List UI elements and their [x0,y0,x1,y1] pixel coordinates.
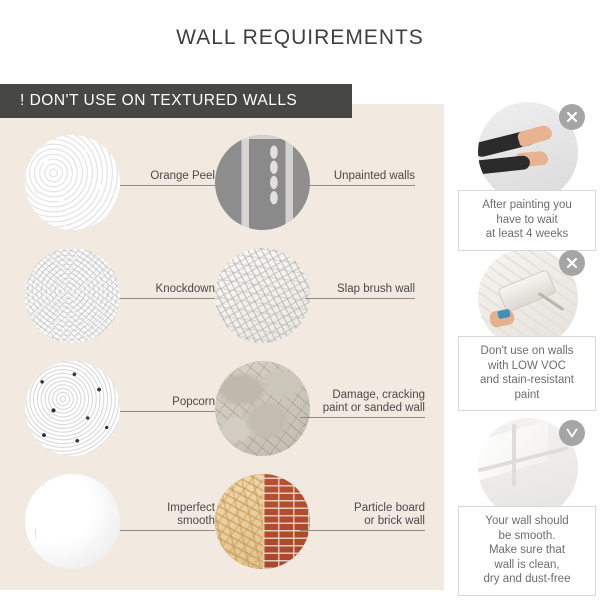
advice-card-smooth-clean: Your wall should be smooth. Make sure th… [458,418,598,506]
label-underline [300,530,425,531]
hands-on-wall-photo [473,102,583,190]
advice-card-low-voc: Don't use on walls with LOW VOC and stai… [458,248,598,336]
slap-brush-swatch [215,248,310,343]
warning-banner: ! DON'T USE ON TEXTURED WALLS [0,84,352,118]
label-underline [305,298,415,299]
cross-icon [559,250,585,276]
texture-item-imperfect: Imperfect smooth [25,474,215,584]
texture-label-unpainted: Unpainted walls [305,157,415,199]
orange-peel-swatch [25,135,120,230]
osb-half [215,474,263,569]
warning-banner-label: ! DON'T USE ON TEXTURED WALLS [0,92,297,110]
advice-card-text: Your wall should be smooth. Make sure th… [458,506,596,596]
texture-label-popcorn: Popcorn [120,383,215,425]
label-underline [120,530,215,531]
texture-label-slap-brush: Slap brush wall [305,270,415,312]
unpainted-wall-swatch [215,135,310,230]
texture-item-popcorn: Popcorn [25,361,215,471]
texture-label-damage: Damage, cracking paint or sanded wall [300,376,425,431]
texture-item-orange-peel: Orange Peel [25,135,215,245]
texture-label-particle-board: Particle board or brick wall [300,489,425,544]
label-underline [305,185,415,186]
texture-label-orange-peel: Orange Peel [120,157,215,199]
smooth-wall-photo [473,418,583,506]
imperfect-smooth-swatch [25,474,120,569]
label-underline [120,185,215,186]
texture-item-damage: Damage, cracking paint or sanded wall [215,361,415,471]
page-title: WALL REQUIREMENTS [0,26,600,50]
window-frame-shape [478,446,568,474]
damaged-wall-swatch [215,361,310,456]
texture-item-particle-board: Particle board or brick wall [215,474,415,584]
roller-drum-shape [497,269,557,313]
label-underline [300,417,425,418]
check-icon [559,420,585,446]
window-frame-shape [512,423,516,486]
knockdown-swatch [25,248,120,343]
texture-label-knockdown: Knockdown [120,270,215,312]
hand-shape [517,124,554,148]
hand-shape [515,151,548,168]
texture-item-knockdown: Knockdown [25,248,215,358]
texture-grid: Orange Peel Unpainted walls Knockdown [0,118,444,590]
advice-card-text: Don't use on walls with LOW VOC and stai… [458,336,596,411]
label-underline [120,411,215,412]
advice-card-wait-4-weeks: After painting you have to wait at least… [458,102,598,190]
cross-icon [559,104,585,130]
particle-board-brick-swatch [215,474,310,569]
texture-item-slap-brush: Slap brush wall [215,248,415,358]
popcorn-swatch [25,361,120,456]
infographic-root: WALL REQUIREMENTS ! DON'T USE ON TEXTURE… [0,0,600,600]
label-underline [120,298,215,299]
advice-card-text: After painting you have to wait at least… [458,190,596,251]
paint-roller-photo [473,248,583,336]
texture-label-imperfect: Imperfect smooth [120,489,215,544]
texture-item-unpainted: Unpainted walls [215,135,415,245]
